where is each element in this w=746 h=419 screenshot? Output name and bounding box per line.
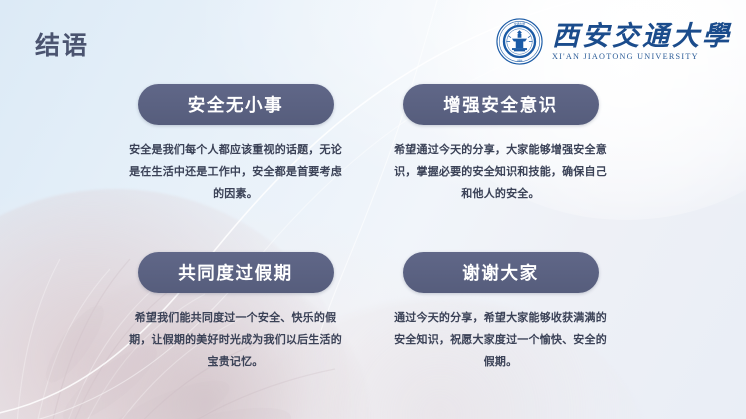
summary-card-4: 谢谢大家 通过今天的分享，希望大家能够收获满满的安全知识，祝愿大家度过一个愉快、… [388, 252, 613, 373]
summary-card-3: 共同度过假期 希望我们能共同度过一个安全、快乐的假期，让假期的美好时光成为我们以… [123, 252, 348, 373]
card-heading-label-2: 增强安全意识 [443, 92, 558, 117]
summary-card-2: 增强安全意识 希望通过今天的分享，大家能够增强安全意识，掌握必要的安全知识和技能… [388, 84, 613, 205]
svg-text:交通大學: 交通大學 [514, 22, 525, 26]
slide-canvas: 结语 交通大學 1896 西安交通大學 XI'AN JIAOTONG UN [0, 0, 746, 419]
card-body-text-1: 安全是我们每个人都应该重视的话题，无论是在生活中还是工作中，安全都是首要考虑的因… [127, 139, 345, 205]
card-heading-pill-3: 共同度过假期 [138, 252, 334, 293]
card-heading-pill-4: 谢谢大家 [403, 252, 599, 293]
logo-name-cn: 西安交通大學 [552, 22, 732, 50]
summary-card-grid: 安全无小事 安全是我们每个人都应该重视的话题，无论是在生活中还是工作中，安全都是… [123, 84, 613, 373]
card-heading-pill-2: 增强安全意识 [403, 84, 599, 125]
card-heading-pill-1: 安全无小事 [138, 84, 334, 125]
university-logo: 交通大學 1896 西安交通大學 XI'AN JIAOTONG UNIVERSI… [496, 18, 732, 65]
card-body-text-2: 希望通过今天的分享，大家能够增强安全意识，掌握必要的安全知识和技能，确保自己和他… [392, 139, 610, 205]
logo-name-en: XI'AN JIAOTONG UNIVERSITY [552, 52, 699, 61]
card-heading-label-1: 安全无小事 [188, 92, 284, 117]
card-body-text-4: 通过今天的分享，希望大家能够收获满满的安全知识，祝愿大家度过一个愉快、安全的假期… [392, 307, 610, 373]
xjtu-seal-icon: 交通大學 1896 [496, 18, 543, 65]
page-title: 结语 [35, 26, 89, 62]
card-heading-label-3: 共同度过假期 [178, 260, 293, 285]
svg-text:1896: 1896 [517, 59, 523, 63]
card-heading-label-4: 谢谢大家 [462, 260, 538, 285]
summary-card-1: 安全无小事 安全是我们每个人都应该重视的话题，无论是在生活中还是工作中，安全都是… [123, 84, 348, 205]
card-body-text-3: 希望我们能共同度过一个安全、快乐的假期，让假期的美好时光成为我们以后生活的宝贵记… [127, 307, 345, 373]
